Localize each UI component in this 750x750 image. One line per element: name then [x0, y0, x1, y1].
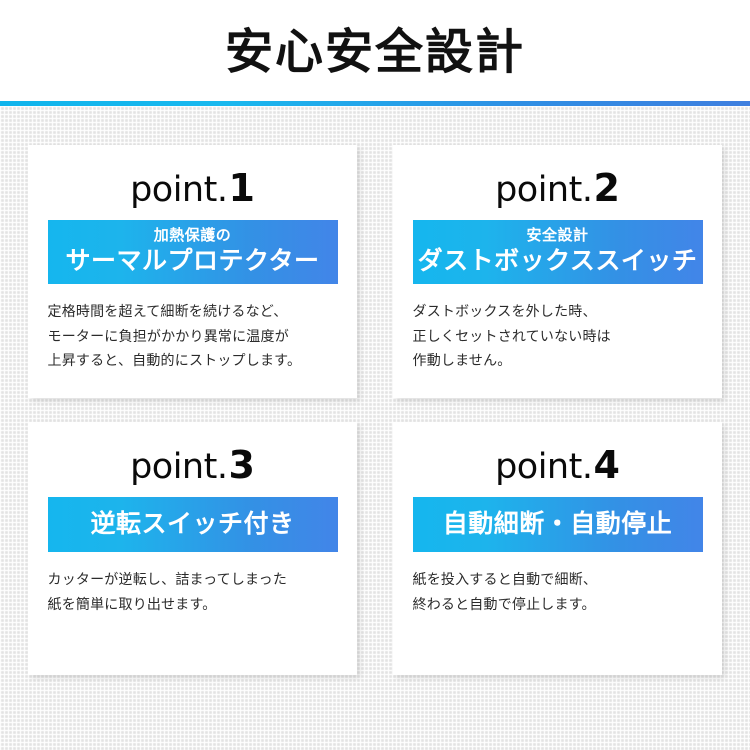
- page-header: 安心安全設計: [0, 0, 750, 100]
- point-band-title-3: 逆転スイッチ付き: [48, 508, 338, 539]
- point-card-2: point.2 安全設計 ダストボックススイッチ ダストボックスを外した時、 正…: [393, 145, 722, 398]
- point-band-subtitle-2: 安全設計: [413, 226, 703, 245]
- point-card-1: point.1 加熱保護の サーマルプロテクター 定格時間を超えて細断を続けるな…: [28, 145, 357, 398]
- page-root: 安心安全設計 point.1 加熱保護の サーマルプロテクター 定格時間を超えて…: [0, 0, 750, 750]
- point-word-4: point.: [495, 450, 592, 485]
- point-label-4: point.4: [495, 446, 620, 485]
- description-line: 紙を投入すると自動で細断、: [413, 568, 703, 593]
- description-line: 終わると自動で停止します。: [413, 593, 703, 618]
- description-line: モーターに負担がかかり異常に温度が: [48, 325, 338, 350]
- point-band-title-1: サーマルプロテクター: [48, 245, 338, 276]
- points-grid: point.1 加熱保護の サーマルプロテクター 定格時間を超えて細断を続けるな…: [28, 145, 722, 675]
- point-label-1: point.1: [130, 169, 255, 208]
- point-number-4: 4: [593, 446, 619, 484]
- point-band-subtitle-1: 加熱保護の: [48, 226, 338, 245]
- point-number-2: 2: [593, 169, 619, 207]
- point-band-3: 逆転スイッチ付き: [48, 497, 338, 552]
- point-number-3: 3: [228, 446, 254, 484]
- point-band-4: 自動細断・自動停止: [413, 497, 703, 552]
- point-description-4: 紙を投入すると自動で細断、 終わると自動で停止します。: [413, 568, 703, 617]
- description-line: 紙を簡単に取り出せます。: [48, 593, 338, 618]
- point-label-2: point.2: [495, 169, 620, 208]
- point-word-1: point.: [130, 173, 227, 208]
- page-title: 安心安全設計: [225, 28, 525, 76]
- description-line: 作動しません。: [413, 349, 703, 374]
- description-line: ダストボックスを外した時、: [413, 300, 703, 325]
- description-line: 上昇すると、自動的にストップします。: [48, 349, 338, 374]
- point-word-2: point.: [495, 173, 592, 208]
- point-description-2: ダストボックスを外した時、 正しくセットされていない時は 作動しません。: [413, 300, 703, 374]
- point-band-title-4: 自動細断・自動停止: [413, 508, 703, 539]
- description-line: カッターが逆転し、詰まってしまった: [48, 568, 338, 593]
- point-word-3: point.: [130, 450, 227, 485]
- point-card-4: point.4 自動細断・自動停止 紙を投入すると自動で細断、 終わると自動で停…: [393, 422, 722, 675]
- point-number-1: 1: [228, 169, 254, 207]
- point-card-3: point.3 逆転スイッチ付き カッターが逆転し、詰まってしまった 紙を簡単に…: [28, 422, 357, 675]
- point-description-3: カッターが逆転し、詰まってしまった 紙を簡単に取り出せます。: [48, 568, 338, 617]
- point-band-title-2: ダストボックススイッチ: [413, 245, 703, 276]
- description-line: 正しくセットされていない時は: [413, 325, 703, 350]
- point-description-1: 定格時間を超えて細断を続けるなど、 モーターに負担がかかり異常に温度が 上昇する…: [48, 300, 338, 374]
- point-band-1: 加熱保護の サーマルプロテクター: [48, 220, 338, 284]
- point-band-2: 安全設計 ダストボックススイッチ: [413, 220, 703, 284]
- description-line: 定格時間を超えて細断を続けるなど、: [48, 300, 338, 325]
- point-label-3: point.3: [130, 446, 255, 485]
